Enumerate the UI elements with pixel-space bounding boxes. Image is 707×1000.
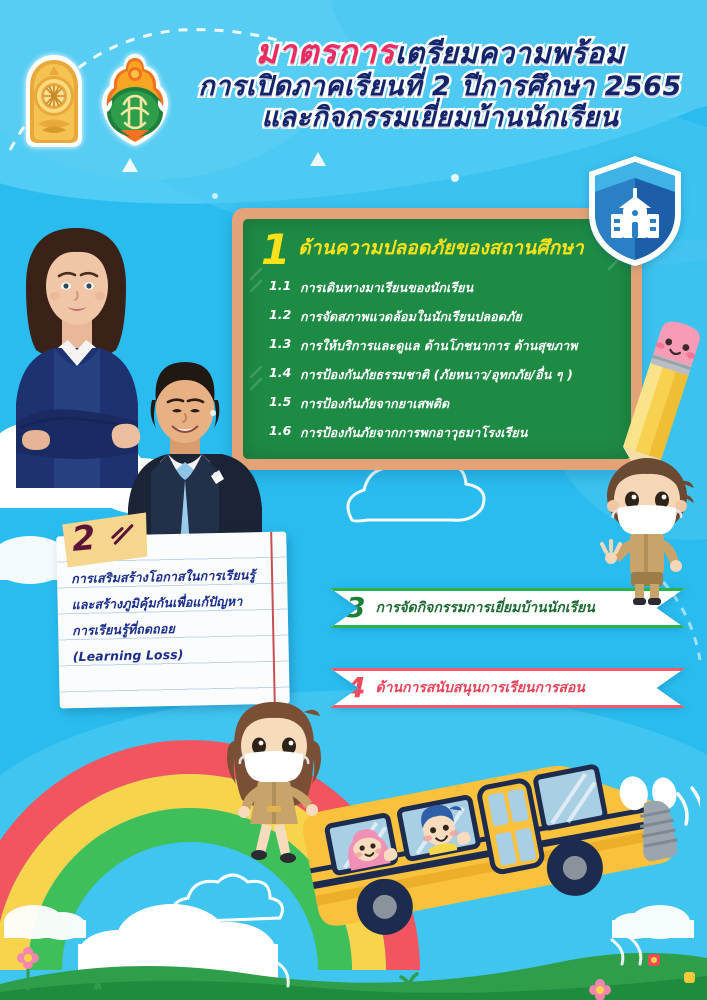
poster-canvas: มาตรการเตรียมความพร้อม การเปิดภาคเรียนที… xyxy=(0,0,707,1000)
list-item-text: การป้องกันภัยจากการพกอาวุธมาโรงเรียน xyxy=(300,423,527,443)
list-item-index: 1.6 xyxy=(269,423,293,443)
list-item-text: การจัดสภาพแวดล้อมในนักเรียนปลอดภัย xyxy=(300,307,522,327)
list-item-index: 1.2 xyxy=(269,307,293,327)
section-3-heading: การจัดกิจกรรมการเยี่ยมบ้านนักเรียน xyxy=(375,597,594,619)
title-line-3: และกิจกรรมเยี่ยมบ้านนักเรียน xyxy=(190,103,690,132)
list-item: 1.6 การป้องกันภัยจากการพกอาวุธมาโรงเรียน xyxy=(269,423,631,443)
title-line-2: การเปิดภาคเรียนที่ 2 ปีการศึกษา 2565 xyxy=(190,72,690,101)
section-1-number: 1 xyxy=(261,233,290,267)
list-item-index: 1.5 xyxy=(269,394,293,414)
safe-school-shield-icon xyxy=(581,152,689,270)
tag-slash-icon xyxy=(110,523,138,547)
blackboard-surface: 1 ด้านความปลอดภัยของสถานศึกษา 1.1 การเดิ… xyxy=(243,219,631,459)
list-item-index: 1.3 xyxy=(269,336,293,356)
section-1-item-list: 1.1 การเดินทางมาเรียนของนักเรียน 1.2 การ… xyxy=(269,278,631,443)
school-bus-illustration xyxy=(300,750,700,950)
list-item: 1.5 การป้องกันภัยจากยาเสพติด xyxy=(269,394,631,414)
list-item: 1.2 การจัดสภาพแวดล้อมในนักเรียนปลอดภัย xyxy=(269,307,631,327)
section-4-number: 4 xyxy=(346,674,365,702)
poster-title: มาตรการเตรียมความพร้อม การเปิดภาคเรียนที… xyxy=(190,34,690,132)
section-2-number: 2 xyxy=(70,518,97,560)
list-item-index: 1.1 xyxy=(269,278,293,298)
list-item-text: การให้บริการและดูแล ด้านโภชนาการ ด้านสุข… xyxy=(300,336,578,356)
list-item: 1.3 การให้บริการและดูแล ด้านโภชนาการ ด้า… xyxy=(269,336,631,356)
obec-emblem xyxy=(98,52,172,152)
section-1-heading: ด้านความปลอดภัยของสถานศึกษา xyxy=(298,233,584,267)
title-line-1-rest: เตรียมความพร้อม xyxy=(395,36,624,70)
section-4-banner-body: 4 ด้านการสนับสนุนการเรียนการสอน xyxy=(330,668,685,708)
section-3-number: 3 xyxy=(346,594,365,622)
list-item: 1.4 การป้องกันภัยธรรมชาติ (ภัยหนาว/อุทกภ… xyxy=(269,365,631,385)
emblem-group xyxy=(18,52,172,152)
section-4-banner: 4 ด้านการสนับสนุนการเรียนการสอน xyxy=(330,668,685,708)
motion-lines xyxy=(678,788,700,826)
section-2-line: และสร้างภูมิคุ้มกันเพื่อแก้ปัญหา xyxy=(71,588,272,618)
girl-student-illustration xyxy=(218,694,330,869)
title-accent-word: มาตรการ xyxy=(256,32,395,71)
flower-square xyxy=(684,972,695,983)
boy-student-illustration xyxy=(592,448,702,608)
title-line-1: มาตรการเตรียมความพร้อม xyxy=(190,34,690,70)
list-item: 1.1 การเดินทางมาเรียนของนักเรียน xyxy=(269,278,631,298)
list-item-index: 1.4 xyxy=(269,365,293,385)
section-2-line: (Learning Loss) xyxy=(72,640,273,670)
list-item-text: การป้องกันภัยจากยาเสพติด xyxy=(300,394,449,414)
list-item-text: การเดินทางมาเรียนของนักเรียน xyxy=(300,278,473,298)
list-item-text: การป้องกันภัยธรรมชาติ (ภัยหนาว/อุทกภัย/อ… xyxy=(300,365,573,385)
section-1-header: 1 ด้านความปลอดภัยของสถานศึกษา xyxy=(243,219,631,267)
section-4-heading: ด้านการสนับสนุนการเรียนการสอน xyxy=(375,677,584,699)
ministry-of-education-emblem xyxy=(18,52,90,152)
